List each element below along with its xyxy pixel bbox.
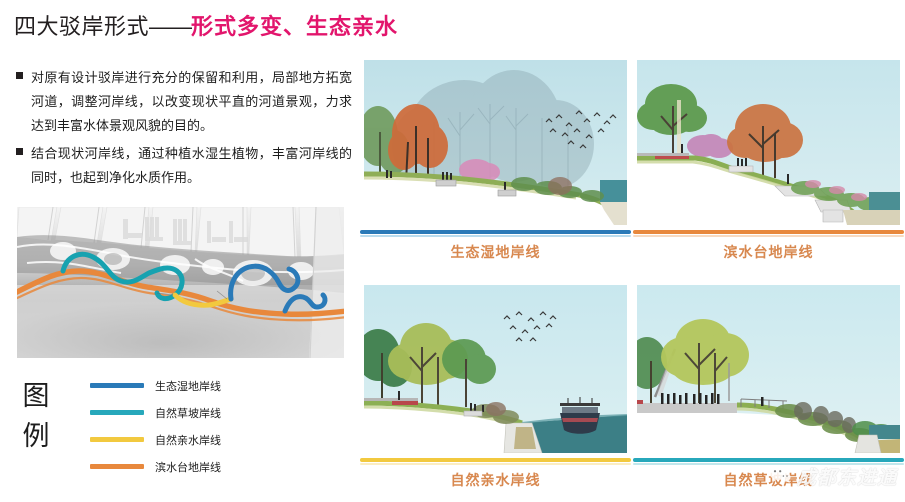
photo-caption: 自然草坡岸线 — [633, 470, 904, 490]
legend: 图例 生态湿地岸线 自然草坡岸线 自然亲水岸线 滨水台地岸线 — [18, 372, 248, 482]
divider-natural-water-friendly — [360, 458, 631, 468]
legend-item-label: 自然草坡岸线 — [155, 405, 221, 421]
legend-item-label: 滨水台地岸线 — [155, 459, 221, 475]
legend-item-label: 自然亲水岸线 — [155, 432, 221, 448]
square-bullet-icon — [16, 148, 23, 155]
square-bullet-icon — [16, 72, 23, 79]
legend-color-swatch — [90, 410, 144, 415]
masterplan-svg — [17, 207, 344, 358]
render-image-natural-grass-slope — [637, 285, 900, 453]
divider-natural-grass-slope — [633, 458, 904, 468]
bullet-text: 对原有设计驳岸进行充分的保留和利用，局部地方拓宽河道，调整河岸线，以改变现状平直… — [31, 66, 352, 138]
divider-ecological-wetland — [360, 230, 631, 240]
photo-caption: 自然亲水岸线 — [360, 470, 631, 490]
slide-root: 四大驳岸形式——形式多变、生态亲水 对原有设计驳岸进行充分的保留和利用，局部地方… — [0, 0, 905, 502]
legend-item: 滨水台地岸线 — [90, 453, 250, 480]
legend-color-swatch — [90, 383, 144, 388]
legend-item: 自然草坡岸线 — [90, 399, 250, 426]
page-title: 四大驳岸形式——形式多变、生态亲水 — [14, 9, 398, 41]
list-item: 对原有设计驳岸进行充分的保留和利用，局部地方拓宽河道，调整河岸线，以改变现状平直… — [16, 66, 352, 138]
photo-caption: 生态湿地岸线 — [360, 242, 631, 262]
legend-item: 自然亲水岸线 — [90, 426, 250, 453]
render-image-natural-water-friendly — [364, 285, 627, 453]
render-image-waterfront-terrace — [637, 60, 900, 225]
legend-item-list: 生态湿地岸线 自然草坡岸线 自然亲水岸线 滨水台地岸线 — [90, 372, 250, 480]
list-item: 结合现状河岸线，通过种植水湿生植物，丰富河岸线的同时，也起到净化水质作用。 — [16, 142, 352, 190]
masterplan-diagram — [17, 207, 344, 358]
render-image-ecological-wetland — [364, 60, 627, 225]
legend-item-label: 生态湿地岸线 — [155, 378, 221, 394]
bullet-text: 结合现状河岸线，通过种植水湿生植物，丰富河岸线的同时，也起到净化水质作用。 — [31, 142, 352, 190]
photo-caption: 滨水台地岸线 — [633, 242, 904, 262]
photo-card-natural-grass-slope — [637, 285, 900, 453]
legend-color-swatch — [90, 464, 144, 469]
photo-card-waterfront-terrace — [637, 60, 900, 225]
bullet-list: 对原有设计驳岸进行充分的保留和利用，局部地方拓宽河道，调整河岸线，以改变现状平直… — [16, 66, 352, 194]
photo-card-ecological-wetland — [364, 60, 627, 225]
page-title-dash: —— — [149, 14, 191, 39]
legend-color-swatch — [90, 437, 144, 442]
photo-card-natural-water-friendly — [364, 285, 627, 453]
legend-item: 生态湿地岸线 — [90, 372, 250, 399]
legend-heading: 图例 — [18, 376, 54, 456]
page-title-main: 四大驳岸形式 — [14, 14, 149, 39]
page-title-accent: 形式多变、生态亲水 — [191, 14, 398, 39]
divider-waterfront-terrace — [633, 230, 904, 240]
